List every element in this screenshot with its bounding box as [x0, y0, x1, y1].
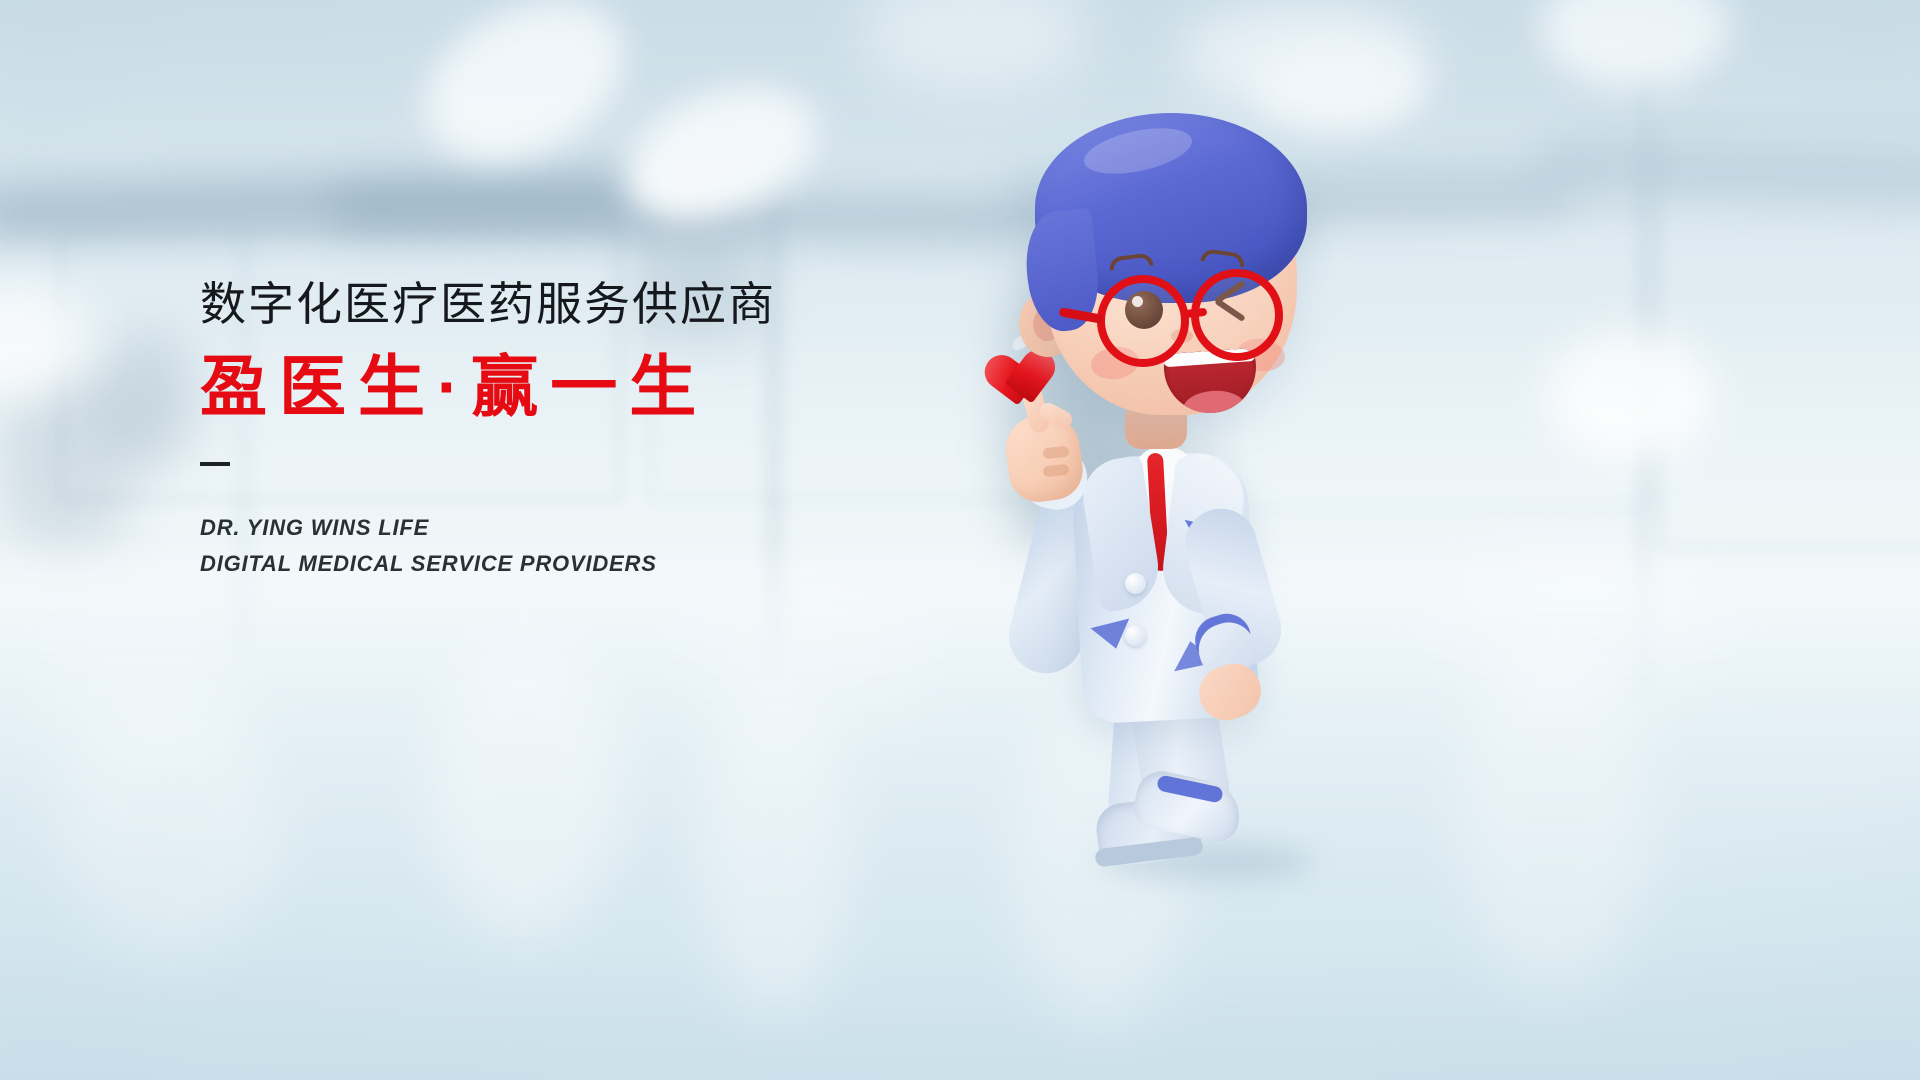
doctor-mascot [985, 55, 1405, 895]
english-subtitle-line-2: DIGITAL MEDICAL SERVICE PROVIDERS [200, 546, 980, 582]
coat-button [1125, 625, 1146, 646]
headline-slogan: 盈医生·赢一生 [200, 354, 980, 421]
head [1013, 115, 1313, 425]
hero-banner: 数字化医疗医药服务供应商 盈医生·赢一生 DR. YING WINS LIFE … [0, 0, 1920, 1080]
divider-rule [200, 462, 230, 466]
tongue [1182, 389, 1246, 416]
english-subtitle-group: DR. YING WINS LIFE DIGITAL MEDICAL SERVI… [200, 510, 980, 581]
headline-subtitle: 数字化医疗医药服务供应商 [200, 281, 980, 327]
glasses-lens-left [1097, 275, 1189, 367]
hero-copy: 数字化医疗医药服务供应商 盈医生·赢一生 DR. YING WINS LIFE … [200, 281, 980, 581]
glasses-icon [1065, 267, 1315, 377]
coat-button [1125, 573, 1146, 594]
glasses-temple [1059, 307, 1104, 324]
english-subtitle-line-1: DR. YING WINS LIFE [200, 510, 980, 546]
